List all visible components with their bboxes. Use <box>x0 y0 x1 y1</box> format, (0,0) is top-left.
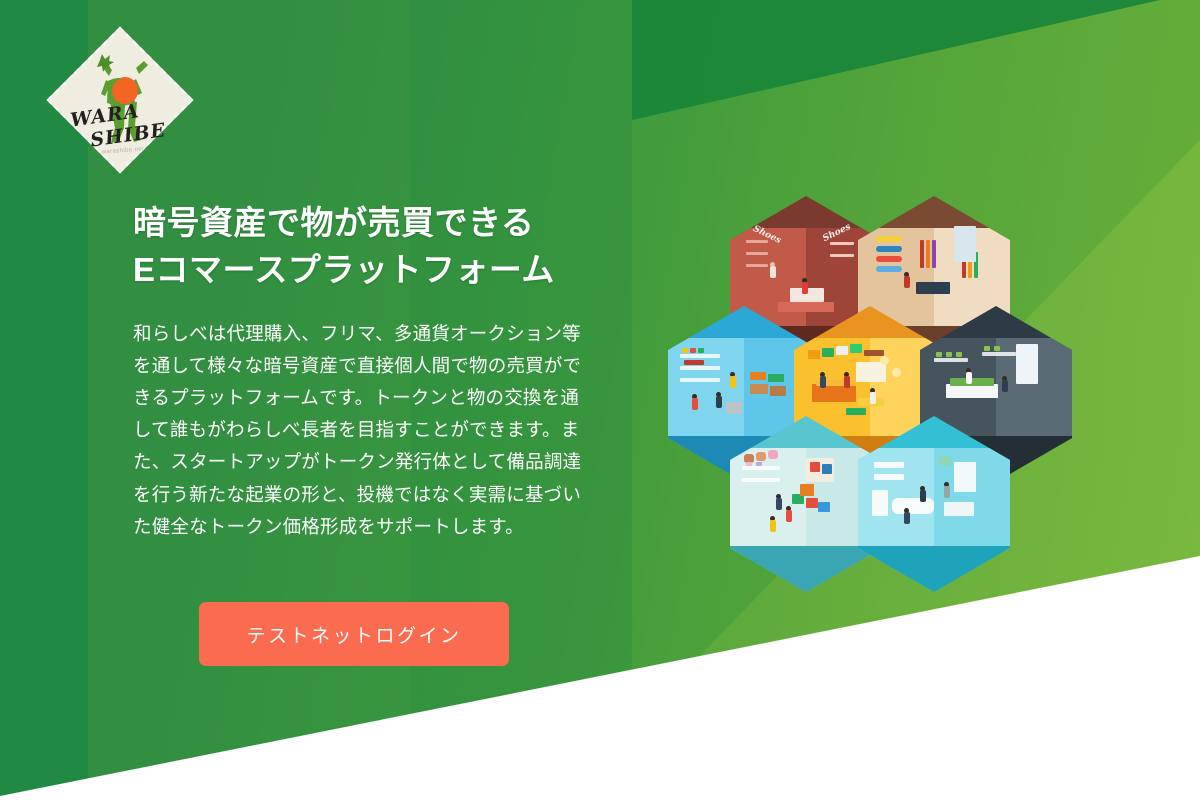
testnet-login-button[interactable]: テストネットログイン <box>199 602 509 666</box>
hero-description: 和らしべは代理購入、フリマ、多通貨オークション等を通して様々な暗号資産で直接個人… <box>133 318 583 543</box>
logo-artwork: WARA SHIBE warashibe.net <box>46 26 194 174</box>
headline-line-1: 暗号資産で物が売買できる <box>133 200 583 247</box>
page-title: 暗号資産で物が売買できる Eコマースプラットフォーム <box>133 200 583 294</box>
hero-copy: 暗号資産で物が売買できる Eコマースプラットフォーム 和らしべは代理購入、フリマ… <box>133 200 583 543</box>
landing-hero-page: WARA SHIBE warashibe.net 暗号資産で物が売買できる Eコ… <box>0 0 1200 800</box>
headline-line-2: Eコマースプラットフォーム <box>133 247 583 294</box>
isometric-mall-illustration: Shoes Shoes <box>668 196 1048 592</box>
site-logo[interactable]: WARA SHIBE warashibe.net <box>46 26 194 174</box>
